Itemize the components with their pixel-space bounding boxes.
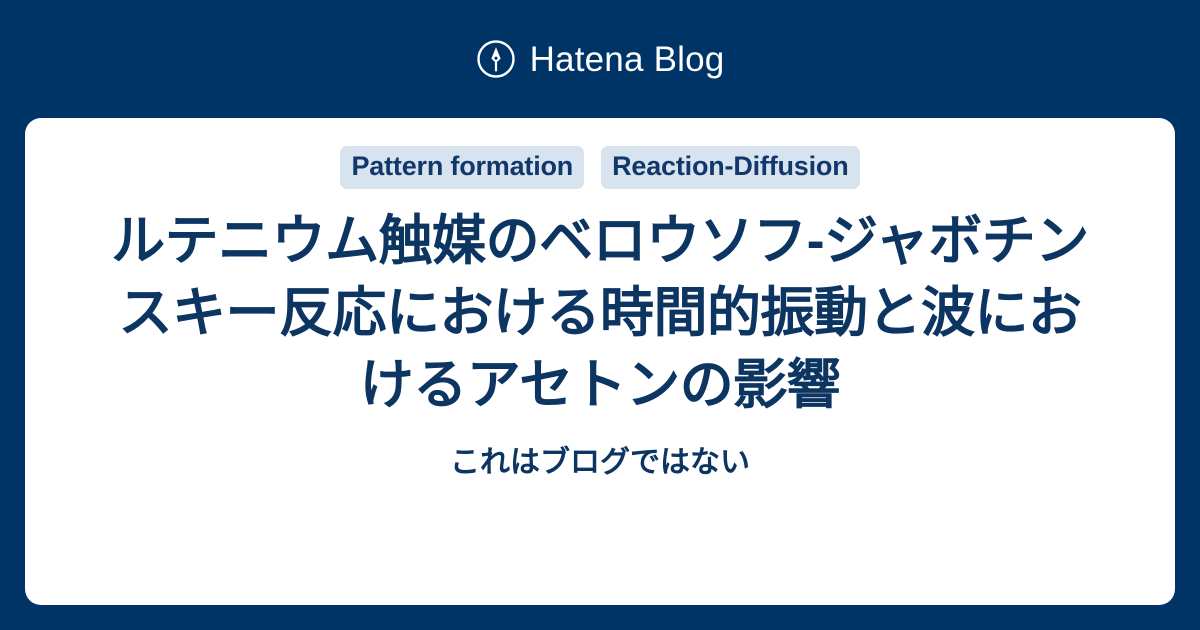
hatena-blog-brand-header: Hatena Blog xyxy=(0,0,1200,118)
entry-title-line-1: ルテニウム触媒のベロウソフ- xyxy=(111,211,824,271)
fountain-pen-nib-in-circle-icon xyxy=(476,39,516,79)
brand-name-label: Hatena Blog xyxy=(530,42,725,77)
ogp-card-canvas: Hatena Blog Pattern formation Reaction-D… xyxy=(0,0,1200,630)
entry-card: Pattern formation Reaction-Diffusion ルテニ… xyxy=(25,118,1175,605)
tag-list: Pattern formation Reaction-Diffusion xyxy=(340,146,859,189)
entry-title-line-4: アセトンの影響 xyxy=(467,355,840,415)
tag-reaction-diffusion[interactable]: Reaction-Diffusion xyxy=(601,146,859,189)
blog-name-label[interactable]: これはブログではない xyxy=(450,443,750,482)
tag-pattern-formation[interactable]: Pattern formation xyxy=(340,146,584,189)
entry-title: ルテニウム触媒のベロウソフ- ジャボチンスキー反応における 時間的振動と波におけ… xyxy=(100,205,1100,421)
